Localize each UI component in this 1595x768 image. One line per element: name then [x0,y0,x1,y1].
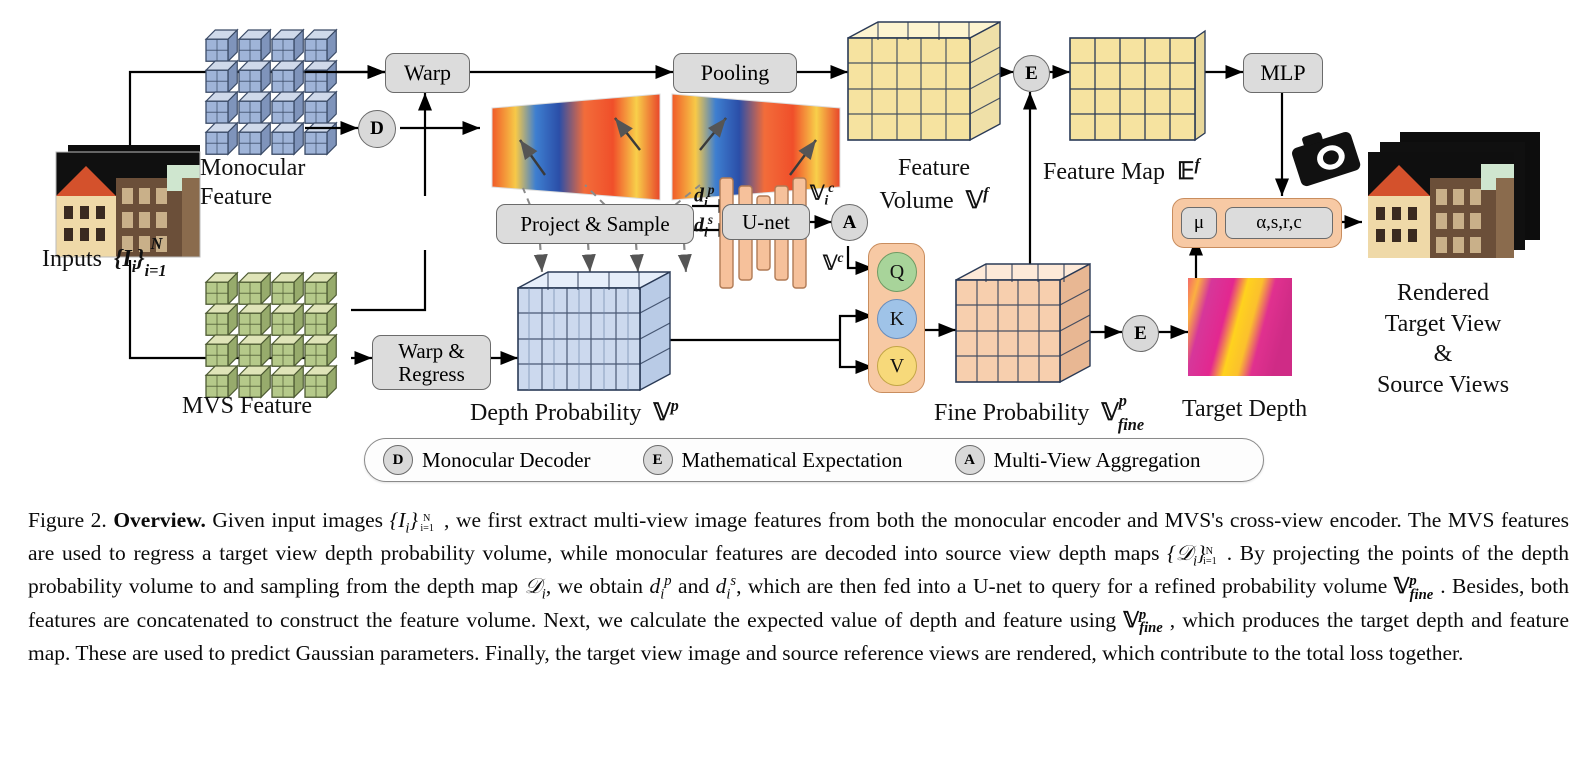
figure-title: Overview. [113,508,206,532]
legend-d-icon: D [383,445,413,475]
gaussian-mu-chip[interactable]: μ [1181,207,1217,239]
depth-probability-volume [518,272,670,390]
fine-probability-volume [956,264,1090,382]
input-image-thumbnail [56,145,200,257]
figure-overview: Warp Pooling MLP Project & Sample U-net … [0,0,1595,768]
legend-e-icon: E [643,445,673,475]
mvs-feature-label: MVS Feature [182,393,312,420]
feature-map-grid [1070,31,1205,140]
legend-a-text: Multi-View Aggregation [994,448,1201,473]
operator-d-circle[interactable]: D [358,110,396,148]
camera-icon [1288,123,1362,188]
query-node[interactable]: Q [877,252,917,292]
gaussian-parameter-box: μ α,s,r,c [1172,198,1342,248]
operator-a-circle[interactable]: A [831,204,868,241]
edge-label-vc: 𝕍c [823,250,844,276]
figure-caption: Figure 2. Overview. Given input images {… [28,506,1569,669]
depth-probability-label: Depth Probability 𝕍p [470,396,679,427]
fine-probability-label: Fine Probability 𝕍pfine [934,396,1153,431]
value-label: V [890,355,904,378]
unet-box[interactable]: U-net [722,204,810,240]
edge-label-vc-i: 𝕍ic [810,180,834,209]
legend-a-icon: A [955,445,985,475]
legend-bar: D Monocular Decoder E Mathematical Expec… [364,438,1264,482]
project-sample-box[interactable]: Project & Sample [496,204,694,244]
query-label: Q [890,261,904,284]
legend-d-text: Monocular Decoder [422,448,591,473]
figure-number: Figure 2. [28,508,107,532]
legend-e-text: Mathematical Expectation [682,448,903,473]
rendered-views-thumbnail [1368,132,1540,258]
legend-item-2: A Multi-View Aggregation [955,445,1201,475]
operator-e-top-circle[interactable]: E [1013,55,1050,92]
source-depth-maps [492,94,840,200]
rendered-views-label: Rendered Target View & Source Views [1368,278,1518,401]
warp-regress-line1: Warp & [398,340,465,362]
warp-regress-line2: Regress [398,363,465,385]
mlp-box[interactable]: MLP [1243,53,1323,93]
feature-map-label: Feature Map 𝔼f [1043,155,1200,186]
warp-box[interactable]: Warp [385,53,470,93]
legend-item-1: E Mathematical Expectation [643,445,903,475]
operator-e-bottom-circle[interactable]: E [1122,315,1159,352]
key-node[interactable]: K [877,299,917,339]
legend-item-0: D Monocular Decoder [383,445,591,475]
edge-label-dp: dip [694,182,715,211]
target-depth-label: Target Depth [1182,396,1307,423]
warp-regress-box[interactable]: Warp & Regress [372,335,491,390]
monocular-feature-label: Monocular Feature [200,155,305,211]
diagram-canvas [0,0,1595,500]
mvs-feature-cubes [206,273,336,397]
value-node[interactable]: V [877,346,917,386]
pooling-box[interactable]: Pooling [673,53,797,93]
edge-label-ds: dis [694,212,713,241]
inputs-label: Inputs {Ii}i=1N [42,242,178,277]
feature-volume-label: Feature Volume 𝕍f [869,155,999,215]
qkv-panel: Q K V [868,243,925,393]
key-label: K [890,308,904,331]
feature-volume-3d [848,22,1000,140]
monocular-feature-cubes [206,30,336,154]
gaussian-params-chip[interactable]: α,s,r,c [1225,207,1333,239]
target-depth-map [1188,278,1292,376]
